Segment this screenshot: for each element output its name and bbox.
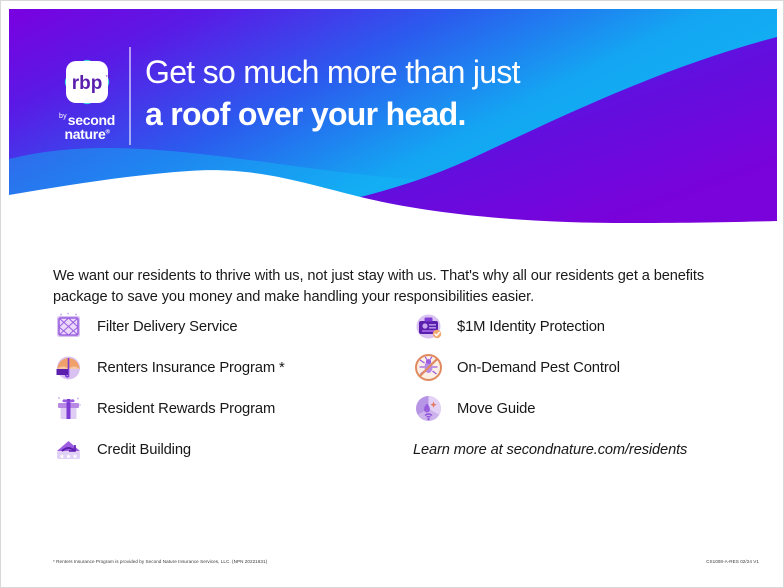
- no-pest-icon: [413, 352, 444, 383]
- hero-headline: Get so much more than just a roof over y…: [145, 51, 520, 135]
- learn-more-text[interactable]: Learn more at secondnature.com/residents: [413, 442, 733, 458]
- logo-nature-label: nature®: [49, 127, 125, 141]
- rbp-logo-mark: rbp ™: [58, 53, 116, 111]
- benefit-item-resident-rewards: Resident Rewards Program: [53, 388, 413, 429]
- benefit-item-renters-insurance: Renters Insurance Program *: [53, 347, 413, 388]
- rbp-trademark-symbol: ™: [105, 74, 111, 81]
- benefit-label: Credit Building: [97, 442, 191, 458]
- benefit-label: Filter Delivery Service: [97, 319, 237, 335]
- umbrella-insurance-icon: [53, 352, 84, 383]
- benefit-label: Renters Insurance Program *: [97, 360, 285, 376]
- benefit-item-move-guide: Move Guide: [413, 388, 733, 429]
- air-filter-icon: [53, 311, 84, 342]
- hero-vertical-divider: [129, 47, 131, 145]
- benefits-left-column: Filter Delivery Service Renters Insuranc…: [53, 306, 413, 470]
- benefit-item-pest-control: On-Demand Pest Control: [413, 347, 733, 388]
- benefit-label: $1M Identity Protection: [457, 319, 605, 335]
- benefits-right-column: $1M Identity Protection On-Demand Pest C…: [413, 306, 733, 470]
- headline-line-1: Get so much more than just: [145, 51, 520, 93]
- benefits-section: Filter Delivery Service Renters Insuranc…: [53, 306, 733, 470]
- rbp-rosette-icon: rbp ™: [58, 53, 116, 111]
- benefit-item-identity-protection: $1M Identity Protection: [413, 306, 733, 347]
- rbp-logo-text: rbp: [72, 73, 103, 94]
- headline-line-2: a roof over your head.: [145, 93, 520, 135]
- benefit-item-credit-building: Credit Building: [53, 429, 413, 470]
- second-nature-wordmark: bysecond nature®: [49, 113, 125, 141]
- logo-by-label: by: [59, 113, 67, 120]
- benefit-item-filter-delivery: Filter Delivery Service: [53, 306, 413, 347]
- gift-rewards-icon: [53, 393, 84, 424]
- identity-shield-icon: [413, 311, 444, 342]
- benefit-label: Move Guide: [457, 401, 535, 417]
- rbp-logo-lockup: rbp ™ bysecond nature®: [49, 53, 125, 145]
- marketing-flyer: rbp ™ bysecond nature® Get so much more …: [0, 0, 784, 588]
- benefit-label: Resident Rewards Program: [97, 401, 275, 417]
- footer-document-code: CS1008-A-RES 02/24 V1: [706, 559, 759, 564]
- intro-paragraph: We want our residents to thrive with us,…: [53, 266, 723, 308]
- move-guide-icon: [413, 393, 444, 424]
- benefit-label: On-Demand Pest Control: [457, 360, 620, 376]
- credit-score-icon: [53, 434, 84, 465]
- footer-disclaimer: * Renters Insurance Program is provided …: [53, 559, 267, 564]
